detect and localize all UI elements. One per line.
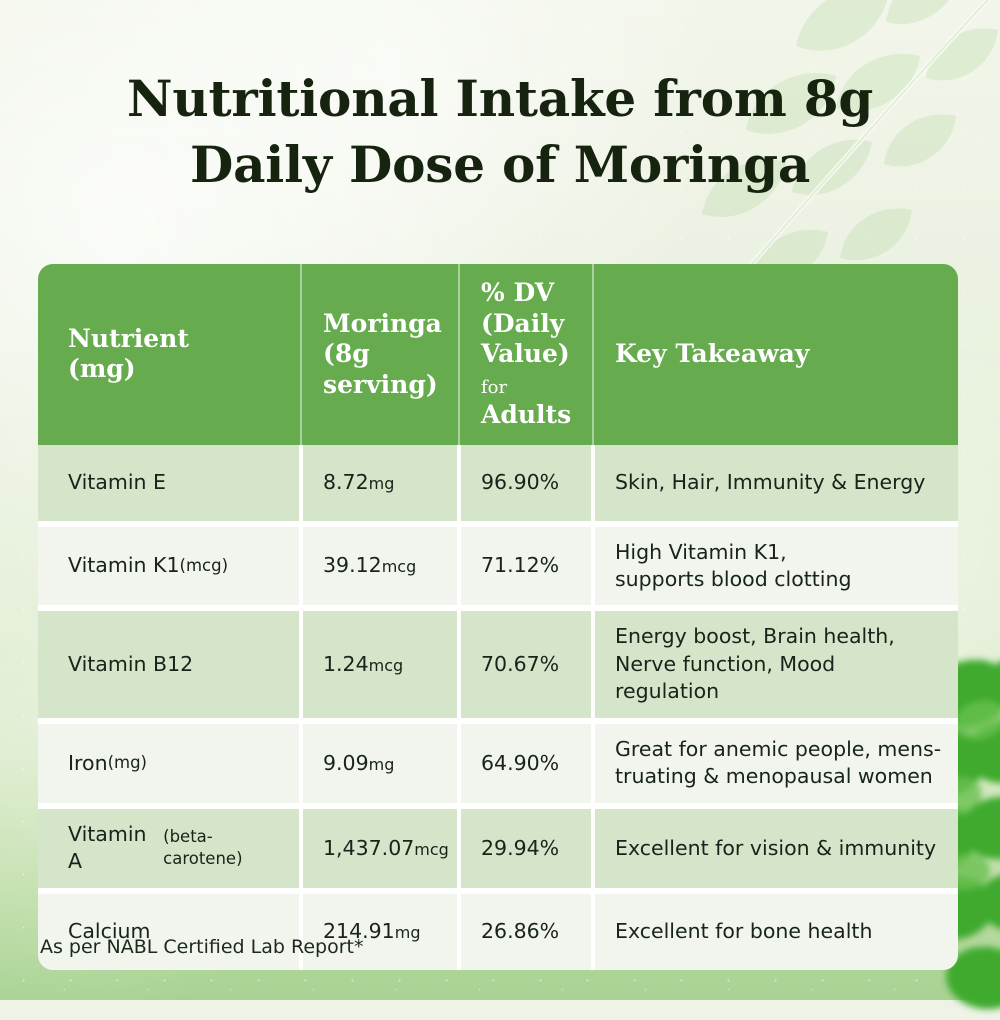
column-header-amount-sub: (8g serving) xyxy=(323,339,443,400)
nutrient-note: (mg) xyxy=(108,752,147,774)
title-line-1: Nutritional Intake from 8g xyxy=(0,66,1000,132)
cell-key-takeaway: Excellent for vision & immunity xyxy=(593,809,958,888)
column-header-dv-line-2: (Daily xyxy=(481,309,577,340)
cell-daily-value: 29.94% xyxy=(459,809,593,888)
amount-unit: mg xyxy=(369,474,395,493)
amount-unit: mcg xyxy=(382,557,417,576)
nutrient-name: Iron xyxy=(68,750,108,777)
column-header-nutrient-main: Nutrient xyxy=(68,324,189,355)
table-row: Vitamin B121.24mcg70.67%Energy boost, Br… xyxy=(38,611,958,717)
column-header-dv-line-3: Value) xyxy=(481,339,577,370)
nutrition-table: Nutrient (mg) Moringa (8g serving) % DV … xyxy=(38,264,958,970)
daily-value-percent: 64.90% xyxy=(481,750,559,777)
cell-nutrient: Vitamin E xyxy=(38,445,301,521)
amount-unit: mcg xyxy=(369,656,404,675)
cell-daily-value: 96.90% xyxy=(459,445,593,521)
cell-daily-value: 26.86% xyxy=(459,894,593,970)
column-header-amount: Moringa (8g serving) xyxy=(301,264,459,445)
cell-amount: 8.72mg xyxy=(301,445,459,521)
column-header-nutrient: Nutrient (mg) xyxy=(38,264,301,445)
cell-amount: 214.91mg xyxy=(301,894,459,970)
takeaway-line-1: Energy boost, Brain health, xyxy=(615,623,944,650)
daily-value-percent: 29.94% xyxy=(481,835,559,862)
cell-amount: 1.24mcg xyxy=(301,611,459,717)
amount-value: 1.24 xyxy=(323,652,369,676)
column-header-daily-value: % DV (Daily Value) for Adults xyxy=(459,264,593,445)
cell-key-takeaway: Skin, Hair, Immunity & Energy xyxy=(593,445,958,521)
cell-amount: 1,437.07mcg xyxy=(301,809,459,888)
cell-nutrient: Calcium xyxy=(38,894,301,970)
column-header-nutrient-unit: (mg) xyxy=(68,354,189,385)
amount-unit: mcg xyxy=(414,840,449,859)
nutrient-name: Vitamin K1 xyxy=(68,552,180,579)
amount-value: 8.72 xyxy=(323,470,369,494)
cell-key-takeaway: High Vitamin K1,supports blood clotting xyxy=(593,527,958,606)
takeaway-line-2: truating & menopausal women xyxy=(615,763,941,790)
footnote: As per NABL Certified Lab Report* xyxy=(40,936,363,958)
table-row: Calcium214.91mg26.86%Excellent for bone … xyxy=(38,894,958,970)
nutrient-note: (mcg) xyxy=(180,555,229,577)
table-header-row: Nutrient (mg) Moringa (8g serving) % DV … xyxy=(38,264,958,445)
table-row: Vitamin E8.72mg96.90%Skin, Hair, Immunit… xyxy=(38,445,958,521)
column-header-dv-line-1: % DV xyxy=(481,278,577,309)
nutrient-note: (beta-carotene) xyxy=(163,826,287,870)
daily-value-percent: 71.12% xyxy=(481,552,559,579)
takeaway-line-1: Skin, Hair, Immunity & Energy xyxy=(615,469,925,496)
cell-nutrient: Vitamin A (beta-carotene) xyxy=(38,809,301,888)
amount-unit: mg xyxy=(369,755,395,774)
nutrient-name: Vitamin B12 xyxy=(68,651,193,678)
takeaway-line-2: Nerve function, Mood regulation xyxy=(615,651,944,706)
table-body: Vitamin E8.72mg96.90%Skin, Hair, Immunit… xyxy=(38,445,958,970)
column-header-amount-main: Moringa xyxy=(323,309,443,340)
page-title: Nutritional Intake from 8g Daily Dose of… xyxy=(0,66,1000,198)
cell-amount: 9.09mg xyxy=(301,724,459,803)
cell-nutrient: Vitamin K1 (mcg) xyxy=(38,527,301,606)
takeaway-line-1: Great for anemic people, mens- xyxy=(615,736,941,763)
takeaway-line-2: supports blood clotting xyxy=(615,566,852,593)
cell-daily-value: 64.90% xyxy=(459,724,593,803)
cell-nutrient: Vitamin B12 xyxy=(38,611,301,717)
daily-value-percent: 96.90% xyxy=(481,469,559,496)
takeaway-line-1: Excellent for vision & immunity xyxy=(615,835,936,862)
nutrient-name: Vitamin A xyxy=(68,821,163,876)
column-header-dv-adults: Adults xyxy=(481,400,571,429)
daily-value-percent: 26.86% xyxy=(481,918,559,945)
column-header-key-takeaway: Key Takeaway xyxy=(593,264,958,445)
table-row: Vitamin A (beta-carotene)1,437.07mcg29.9… xyxy=(38,809,958,888)
nutrient-name: Vitamin E xyxy=(68,469,166,496)
amount-value: 39.12 xyxy=(323,553,382,577)
cell-nutrient: Iron (mg) xyxy=(38,724,301,803)
cell-key-takeaway: Great for anemic people, mens-truating &… xyxy=(593,724,958,803)
cell-key-takeaway: Excellent for bone health xyxy=(593,894,958,970)
column-header-dv-for: for xyxy=(481,377,507,398)
cell-daily-value: 70.67% xyxy=(459,611,593,717)
cell-amount: 39.12mcg xyxy=(301,527,459,606)
table-row: Iron (mg)9.09mg64.90%Great for anemic pe… xyxy=(38,724,958,803)
takeaway-line-1: High Vitamin K1, xyxy=(615,539,852,566)
daily-value-percent: 70.67% xyxy=(481,651,559,678)
cell-key-takeaway: Energy boost, Brain health,Nerve functio… xyxy=(593,611,958,717)
amount-value: 9.09 xyxy=(323,751,369,775)
takeaway-line-1: Excellent for bone health xyxy=(615,918,872,945)
table-row: Vitamin K1 (mcg)39.12mcg71.12%High Vitam… xyxy=(38,527,958,606)
amount-unit: mg xyxy=(395,923,421,942)
title-line-2: Daily Dose of Moringa xyxy=(0,132,1000,198)
amount-value: 1,437.07 xyxy=(323,836,414,860)
cell-daily-value: 71.12% xyxy=(459,527,593,606)
